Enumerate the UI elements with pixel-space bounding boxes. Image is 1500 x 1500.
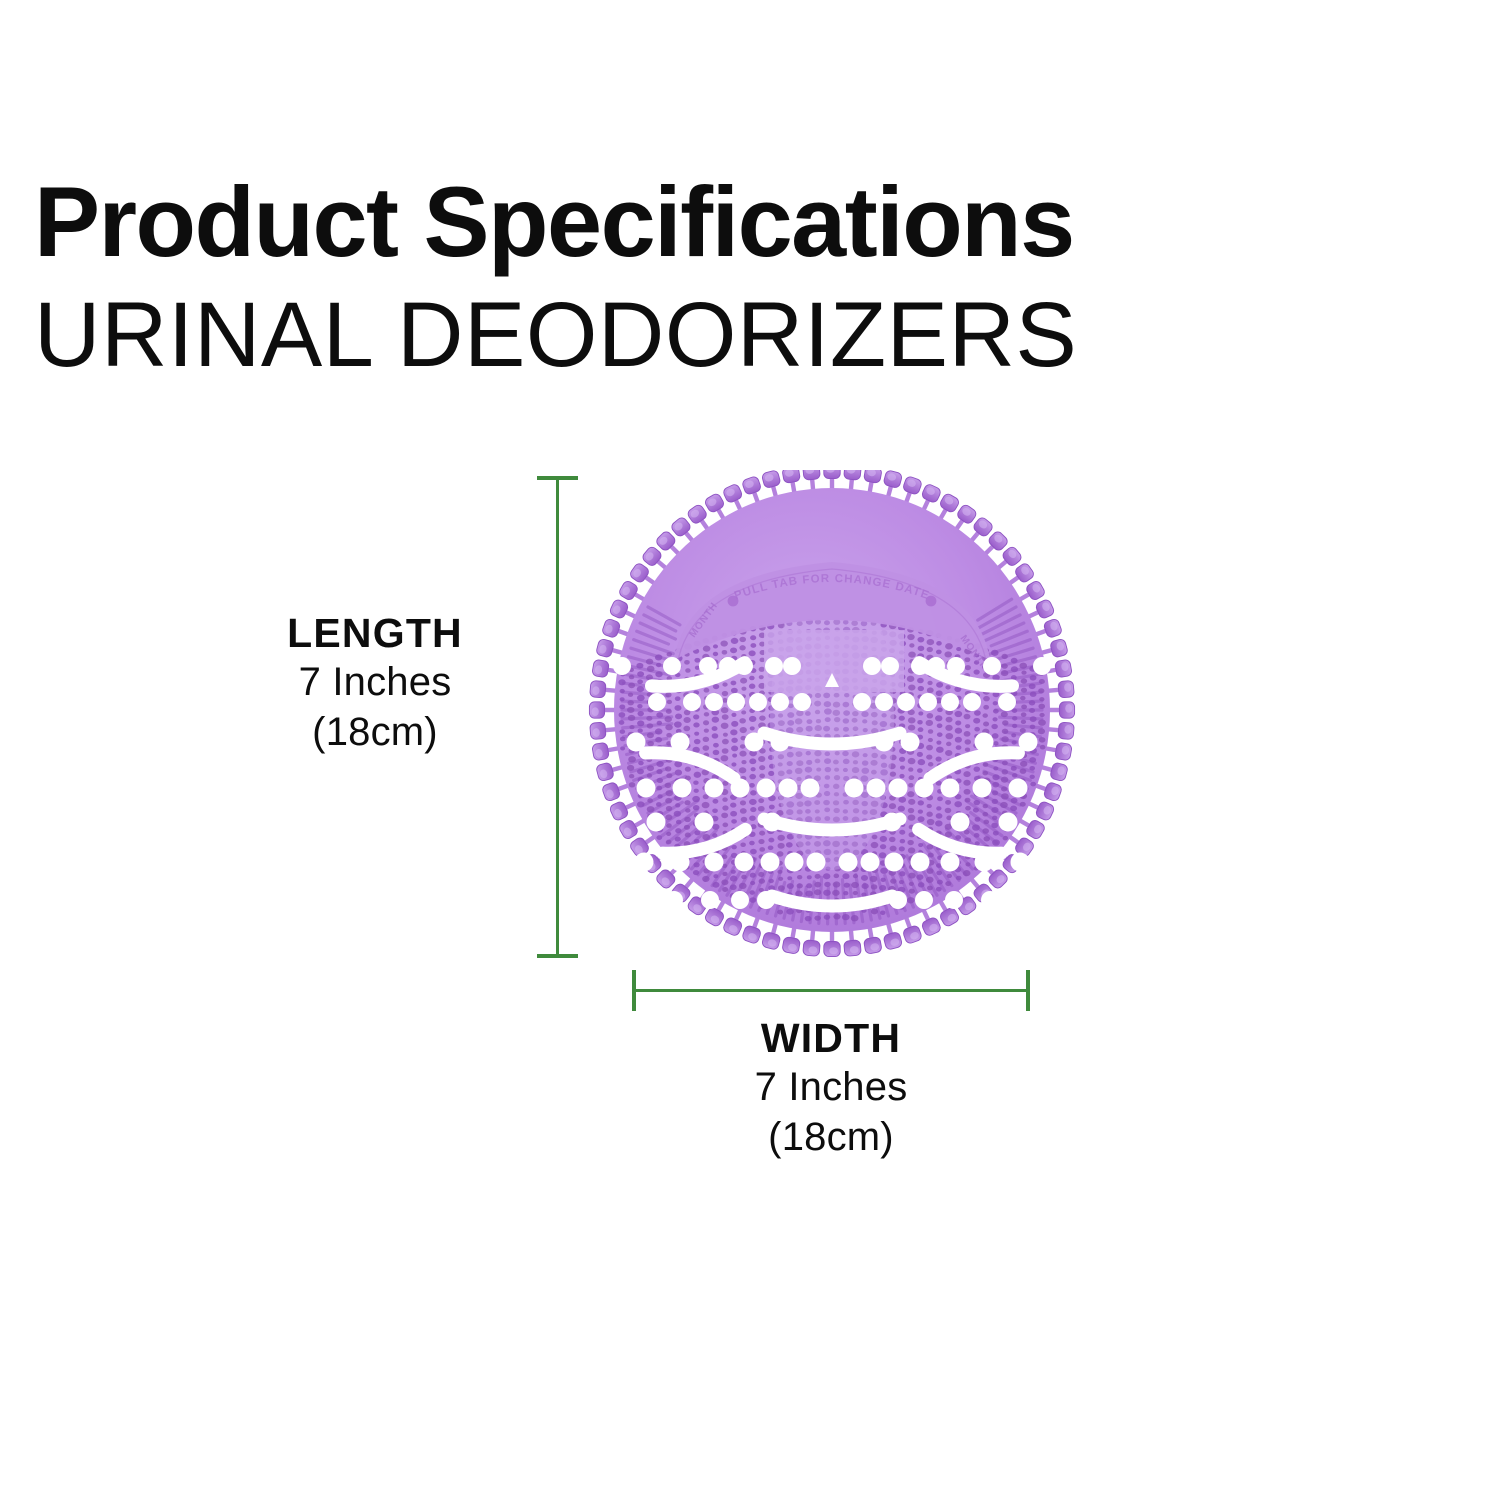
perimeter-nub [844, 940, 862, 957]
drainage-hole [695, 813, 714, 832]
bristle-dot [704, 688, 710, 693]
bristle-dot [759, 773, 765, 778]
bristle-dot [722, 872, 727, 876]
drainage-hole [637, 779, 656, 798]
bristle-dot [740, 800, 746, 805]
bristle-dot [955, 737, 962, 743]
bristle-dot [694, 789, 699, 793]
bristle-dot [898, 797, 906, 803]
bristle-dot [1029, 775, 1034, 779]
drainage-hole [963, 693, 981, 711]
width-dimension-label: WIDTH 7 Inches (18cm) [641, 1013, 1021, 1162]
bristle-dot [955, 720, 961, 725]
bristle-dot [712, 733, 719, 738]
drainage-hole [765, 657, 783, 675]
bristle-dot [908, 808, 915, 813]
urinal-screen-illustration: {} PULL TAB FOR CHANGE DATE MONTH MONTH [582, 470, 1082, 960]
bristle-dot [758, 839, 764, 844]
bristle-dot [946, 742, 951, 746]
perimeter-nub [1050, 638, 1069, 658]
bristle-dot [935, 756, 941, 761]
bristle-dot [964, 714, 971, 720]
drainage-hole [701, 891, 719, 909]
bristle-dot [964, 731, 971, 737]
bristle-dot [749, 815, 756, 820]
perimeter-nub [902, 475, 923, 495]
bristle-dot [963, 771, 970, 777]
perimeter-nub [1058, 722, 1075, 740]
drainage-hole [779, 779, 798, 798]
drainage-hole [941, 853, 960, 872]
bristle-dot [722, 691, 728, 696]
bristle-dot [899, 757, 905, 762]
bristle-dot [918, 727, 924, 732]
bristle-dot [974, 727, 980, 732]
perimeter-nub [921, 916, 942, 937]
bristle-dot [890, 772, 896, 777]
bristle-dot [909, 643, 914, 647]
bristle-dot [721, 755, 729, 761]
bristle-dot [983, 705, 989, 710]
tab-hole-right [926, 596, 937, 607]
bristle-dot [964, 789, 971, 795]
perimeter-nub [921, 483, 942, 504]
bristle-dot [759, 667, 765, 672]
bristle-dot [731, 819, 737, 824]
bristle-dot [732, 753, 737, 757]
bristle-dot [956, 745, 962, 750]
drainage-hole [1011, 853, 1030, 872]
bristle-dot [871, 842, 879, 848]
bristle-dot [749, 684, 755, 689]
drainage-hole [973, 779, 992, 798]
bristle-dot [945, 800, 951, 805]
bristle-dot [926, 755, 932, 760]
bristle-dot [740, 842, 746, 847]
bristle-dot [769, 805, 775, 810]
perimeter-nub [722, 483, 743, 504]
drainage-hole [941, 693, 959, 711]
bristle-dot [730, 811, 737, 817]
bristle-dot [740, 678, 747, 684]
bristle-dot [749, 890, 755, 895]
drainage-hole [647, 813, 666, 832]
bristle-dot [917, 768, 923, 773]
bristle-dot [740, 744, 745, 748]
perimeter-nub [601, 781, 621, 802]
bristle-dot [842, 873, 849, 879]
bristle-dot [703, 646, 711, 652]
length-measurement-guide [534, 476, 582, 958]
bristle-dot [713, 652, 718, 656]
bristle-dot [936, 641, 942, 646]
drainage-hole [881, 657, 899, 675]
bristle-dot [749, 774, 756, 780]
perimeter-nub [1055, 659, 1073, 678]
bristle-dot [815, 874, 821, 879]
bristle-dot [1021, 720, 1026, 724]
bristle-dot [937, 708, 943, 713]
drainage-hole [839, 853, 858, 872]
perimeter-nub [883, 931, 903, 950]
bristle-dot [722, 748, 729, 754]
bristle-dot [730, 647, 737, 653]
perimeter-nub [761, 470, 781, 489]
perimeter-nub [609, 598, 630, 619]
drainage-hole [735, 853, 754, 872]
bristle-dot [702, 745, 709, 751]
bristle-dot [637, 695, 645, 701]
perimeter-nub [1050, 762, 1069, 782]
perimeter-nub [1025, 819, 1046, 841]
bristle-dot [684, 660, 690, 665]
perimeter-nub [883, 470, 903, 489]
bristle-dot [992, 733, 999, 739]
bristle-dot [712, 717, 719, 723]
bristle-dot [945, 808, 952, 813]
bristle-dot [667, 700, 672, 704]
bristle-dot [900, 765, 905, 769]
bristle-dot [619, 720, 625, 725]
width-label-inches: 7 Inches [641, 1063, 1021, 1113]
drainage-hole [889, 779, 908, 798]
drainage-hole [981, 891, 999, 909]
bristle-dot [965, 665, 971, 670]
perimeter-nub [722, 916, 743, 937]
bristle-dot [739, 637, 746, 642]
drainage-hole [635, 853, 654, 872]
drainage-hole [731, 891, 749, 909]
bristle-dot [750, 635, 756, 640]
perimeter-nub [863, 936, 882, 954]
bristle-dot [731, 721, 738, 727]
tab-hole-left [728, 596, 739, 607]
bristle-dot [917, 752, 923, 757]
width-measurement-guide [632, 967, 1030, 1015]
drainage-hole [853, 693, 871, 711]
drainage-hole [771, 693, 789, 711]
bristle-dot [993, 701, 998, 705]
length-label-metric: (18cm) [185, 708, 565, 758]
bristle-dot [927, 681, 932, 685]
length-label-title: LENGTH [185, 608, 565, 658]
bristle-dot [1038, 704, 1045, 709]
bristle-dot [712, 808, 718, 813]
bristle-dot [927, 713, 934, 718]
bristle-dot [992, 674, 1000, 680]
bristle-dot [693, 722, 699, 727]
bristle-dot [666, 733, 672, 738]
bristle-dot [872, 835, 878, 840]
drainage-hole [727, 693, 745, 711]
width-label-metric: (18cm) [641, 1113, 1021, 1163]
bristle-dot [731, 688, 738, 694]
bristle-dot [741, 760, 746, 764]
bristle-dot [749, 716, 756, 722]
bristle-dot [928, 729, 933, 733]
drainage-hole [785, 853, 804, 872]
bristle-dot [927, 804, 932, 808]
bristle-dot [674, 705, 681, 711]
bristle-dot [741, 687, 746, 691]
bristle-dot [935, 820, 943, 826]
perimeter-nub [704, 906, 726, 927]
perimeter-nub [939, 906, 961, 927]
drainage-hole [807, 853, 826, 872]
drainage-hole [705, 693, 723, 711]
perimeter-nub [939, 492, 961, 513]
bristle-dot [768, 838, 774, 843]
bristle-dot [936, 806, 941, 810]
perimeter-nub [782, 936, 801, 954]
drainage-hole [801, 779, 820, 798]
bristle-dot [955, 728, 962, 734]
perimeter-nub [1043, 781, 1063, 802]
bristle-dot [965, 739, 972, 744]
bristle-dot [750, 849, 757, 855]
drainage-hole [613, 657, 631, 675]
bristle-dot [749, 783, 755, 788]
perimeter-nub [618, 580, 639, 602]
bristle-dot [908, 725, 915, 731]
bristle-dot [880, 844, 886, 849]
perimeter-nub [596, 638, 615, 658]
bristle-dot [861, 875, 868, 881]
bristle-dot [908, 758, 916, 764]
bristle-dot [900, 839, 906, 844]
bristle-dot [721, 723, 729, 729]
bristle-dot [992, 717, 997, 721]
bristle-dot [759, 765, 765, 770]
bristle-dot [685, 668, 690, 672]
bristle-streak [1000, 717, 1042, 719]
bristle-dot [685, 767, 691, 772]
bristle-dot [937, 732, 943, 737]
drainage-hole [861, 853, 880, 872]
length-dimension-label: LENGTH 7 Inches (18cm) [185, 608, 565, 757]
perimeter-nub [741, 475, 762, 495]
bristle-dot [1020, 696, 1025, 700]
bristle-dot [823, 873, 830, 879]
bristle-dot [731, 638, 739, 644]
bristle-dot [749, 799, 757, 805]
bristle-dot [927, 639, 935, 645]
bristle-dot [703, 737, 710, 742]
product-image-urinal-screen: {} PULL TAB FOR CHANGE DATE MONTH MONTH [582, 470, 1082, 960]
bristle-dot [759, 847, 765, 852]
bristle-dot [908, 799, 915, 805]
bristle-dot [974, 766, 981, 771]
bristle-dot [731, 681, 737, 686]
bristle-dot [889, 803, 896, 809]
bristle-dot [879, 852, 886, 858]
bristle-dot [899, 774, 904, 778]
bristle-dot [759, 715, 766, 720]
bristle-dot [918, 686, 924, 691]
bristle-dot [982, 713, 987, 717]
drainage-hole [998, 693, 1016, 711]
drainage-hole [983, 657, 1001, 675]
perimeter-nub [1058, 680, 1075, 698]
perimeter-nub [1035, 800, 1056, 821]
drainage-hole [663, 657, 681, 675]
heading-block: Product Specifications URINAL DEODORIZER… [34, 172, 1474, 384]
bristle-dot [722, 714, 729, 720]
perimeter-nub [590, 680, 607, 698]
drainage-hole [1009, 779, 1028, 798]
bristle-dot [899, 716, 905, 721]
bristle-dot [759, 675, 764, 679]
bristle-dot [918, 816, 925, 822]
bristle-dot [758, 756, 765, 762]
bristle-dot [899, 846, 905, 851]
bristle-dot [917, 637, 924, 643]
page-title: Product Specifications [34, 172, 1474, 273]
bristle-dot [713, 743, 719, 748]
bristle-dot [675, 713, 682, 719]
bristle-dot [619, 712, 626, 718]
drainage-hole [999, 813, 1018, 832]
perimeter-nub [609, 800, 630, 821]
length-guide-bottom-cap [537, 954, 578, 958]
drainage-hole [783, 657, 801, 675]
bristle-dot [880, 868, 888, 874]
drainage-hole [705, 853, 724, 872]
bristle-dot [1021, 678, 1027, 683]
bristle-dot [778, 843, 785, 849]
perimeter-nub [592, 742, 610, 761]
bristle-dot [907, 634, 915, 640]
bristle-dot [928, 762, 934, 767]
bristle-dot [880, 910, 885, 915]
bristle-dot [935, 715, 942, 721]
bristle-dot [983, 696, 990, 701]
bristle-dot [918, 800, 924, 805]
bristle-dot [926, 812, 932, 817]
bristle-dot [909, 775, 915, 780]
perimeter-nub [824, 941, 840, 956]
bristle-dot [703, 720, 709, 725]
drainage-hole [875, 693, 893, 711]
perimeter-nub [1025, 580, 1046, 602]
bristle-dot [749, 676, 754, 681]
length-label-inches: 7 Inches [185, 658, 565, 708]
bristle-dot [1039, 713, 1044, 717]
bristle-dot [693, 714, 699, 719]
bristle-dot [629, 782, 636, 787]
bristle-dot [908, 717, 916, 723]
bristle-dot [907, 840, 913, 845]
bristle-dot [945, 725, 952, 731]
drainage-hole [951, 813, 970, 832]
bristle-dot [880, 836, 887, 842]
bristle-dot [777, 835, 785, 841]
bristle-dot [991, 724, 998, 729]
bristle-dot [1020, 728, 1026, 733]
bristle-dot [945, 685, 950, 689]
drainage-hole [915, 891, 933, 909]
bristle-dot [722, 739, 729, 745]
bristle-dot [787, 876, 792, 880]
bristle-dot [927, 687, 934, 693]
perimeter-nub [782, 470, 801, 484]
bristle-dot [918, 759, 926, 765]
bristle-dot [758, 806, 765, 812]
perimeter-nub [618, 819, 639, 841]
perimeter-nub [1043, 618, 1063, 639]
drainage-hole [863, 657, 881, 675]
bristle-dot [907, 676, 915, 682]
bristle-dot [945, 733, 953, 739]
bristle-dot [720, 640, 728, 646]
bristle-dot [786, 842, 793, 848]
bristle-dot [927, 647, 933, 652]
bristle-dot [908, 847, 915, 853]
bristle-dot [694, 658, 700, 663]
bristle-dot [739, 645, 745, 650]
bristle-dot [890, 846, 897, 852]
bristle-dot [749, 841, 755, 846]
perimeter-nub [596, 762, 615, 782]
bristle-dot [713, 750, 720, 755]
drainage-hole [705, 779, 724, 798]
perimeter-nub [1055, 742, 1073, 761]
bristle-dot [739, 751, 746, 757]
bristle-dot [730, 802, 736, 807]
bristle-dot [834, 874, 840, 879]
length-guide-shaft [556, 476, 559, 958]
bristle-dot [768, 771, 774, 776]
bristle-dot [721, 707, 729, 713]
bristle-dot [694, 772, 702, 778]
bristle-dot [955, 711, 963, 717]
bristle-dot [974, 669, 980, 674]
bristle-dot [908, 684, 915, 690]
bristle-dot [936, 813, 943, 819]
perimeter-nub [863, 470, 882, 484]
bristle-dot [759, 831, 765, 836]
bristle-dot [620, 729, 626, 734]
bristle-dot [731, 713, 736, 717]
perimeter-nub [1035, 598, 1056, 619]
bristle-dot [917, 678, 924, 684]
bristle-dot [797, 875, 802, 879]
bristle-dot [936, 741, 941, 745]
bristle-dot [722, 682, 727, 686]
bristle-dot [917, 720, 922, 724]
bristle-dot [889, 837, 896, 842]
bristle-dot [721, 813, 728, 819]
bristle-dot [937, 796, 943, 801]
bristle-dot [964, 657, 970, 662]
bristle-dot [751, 767, 756, 771]
bristle-dot [741, 817, 748, 822]
bristle-dot [731, 738, 737, 743]
bristle-dot [722, 805, 728, 810]
bristle-dot [712, 726, 718, 731]
perimeter-nub [1059, 702, 1074, 718]
bristle-dot [629, 774, 634, 778]
perimeter-nub [592, 659, 610, 678]
perimeter-nub [803, 470, 821, 480]
bristle-dot [741, 710, 746, 714]
bristle-dot [965, 724, 970, 728]
bristle-dot [956, 647, 961, 651]
bristle-dot [936, 747, 944, 753]
bristle-dot [675, 770, 682, 776]
bristle-dot [807, 875, 812, 879]
bristle-dot [637, 711, 643, 716]
